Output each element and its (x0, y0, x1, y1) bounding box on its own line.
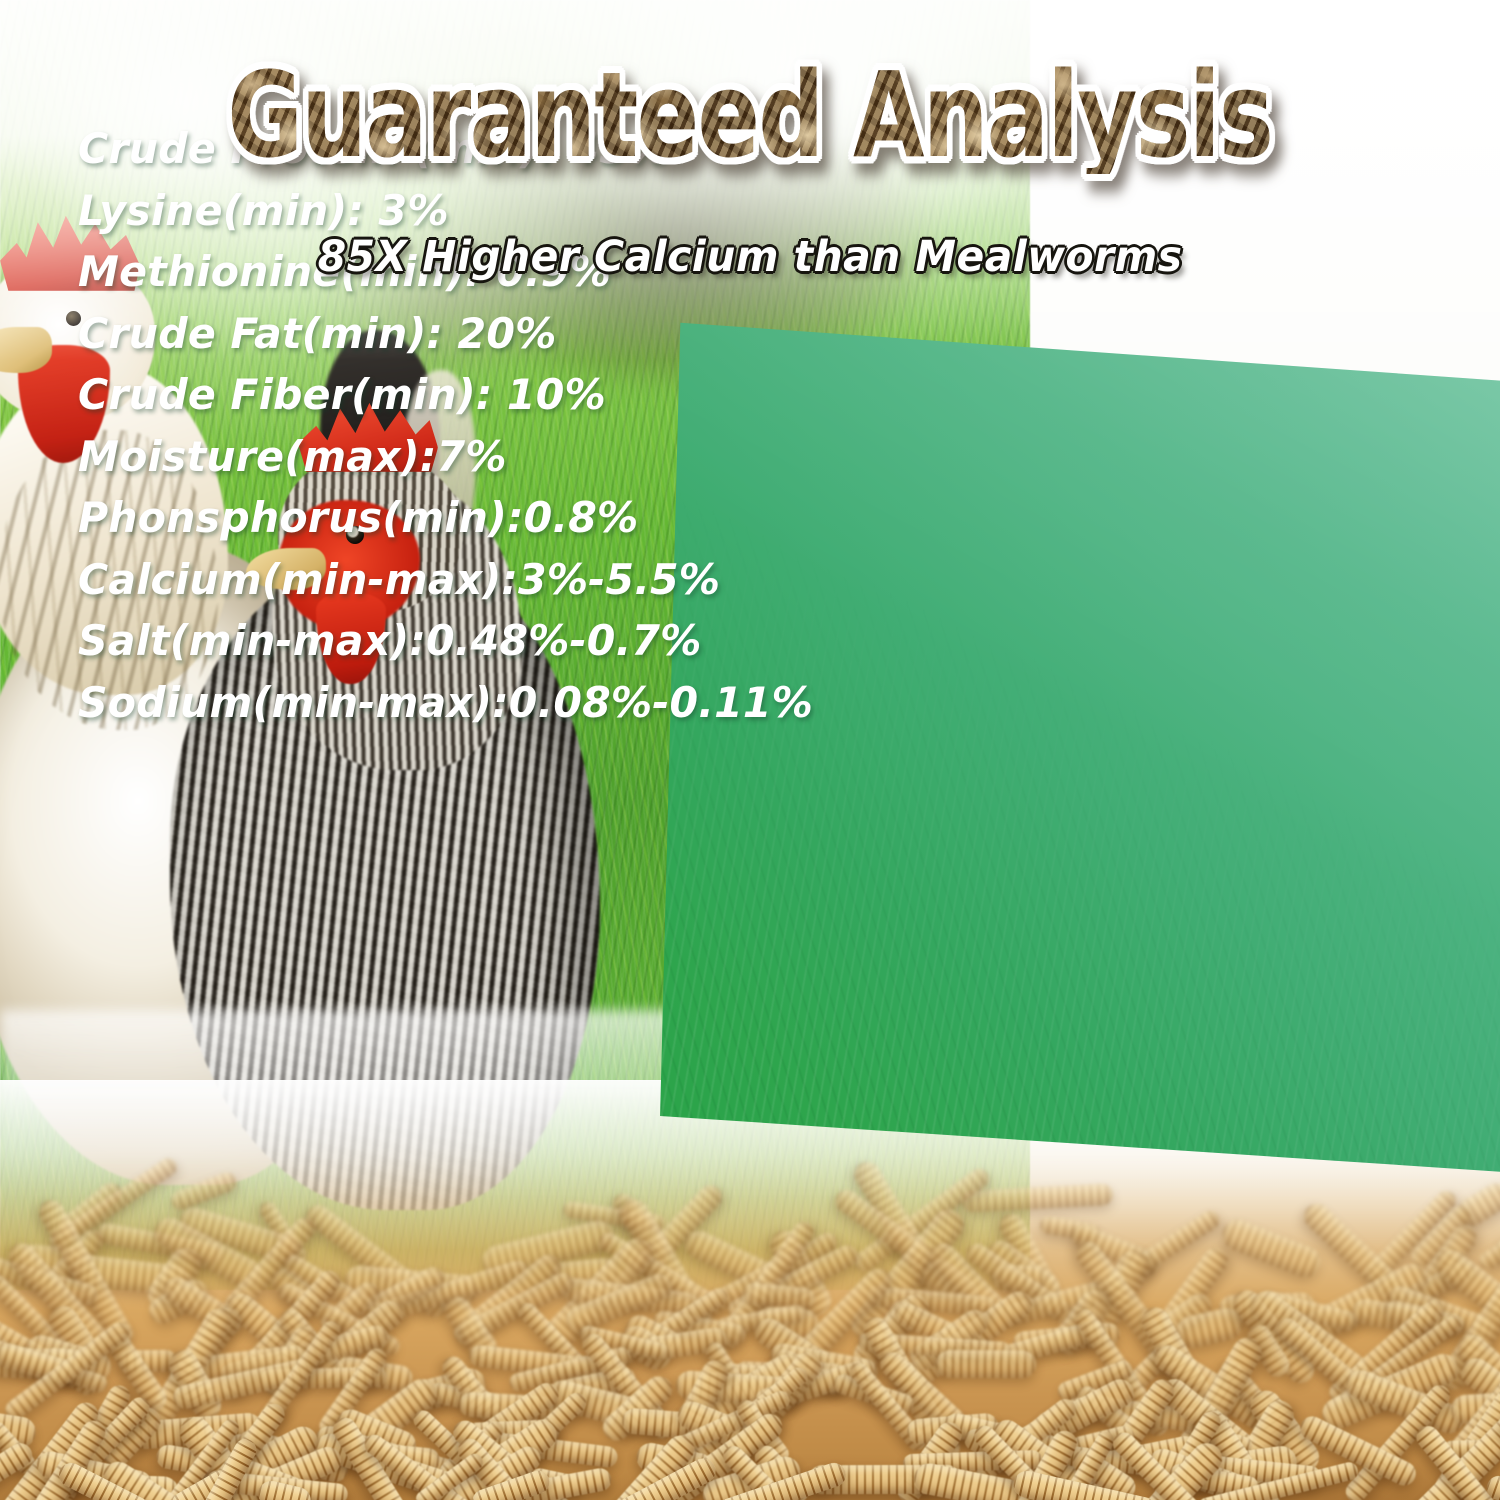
spec-row: Sodium(min-max):0.08%-0.11% (78, 672, 1464, 734)
spec-row: Moisture(max):7% (78, 426, 1464, 488)
page-title: Guaranteed Analysis (228, 56, 1273, 174)
larva (961, 1183, 1113, 1212)
larva (168, 1170, 239, 1213)
subtitle-block: 85X Higher Calcium than Mealworms (0, 232, 1500, 292)
title-block: Guaranteed Analysis (0, 56, 1500, 182)
spec-row: Calcium(min-max):3%-5.5% (78, 549, 1464, 611)
spec-row: Crude Fat(min): 20% (78, 303, 1464, 365)
spec-row: Phonsphorus(min):0.8% (78, 487, 1464, 549)
larva (936, 1350, 1036, 1378)
product-infographic-poster: Guaranteed Analysis 85X Higher Calcium t… (0, 0, 1500, 1500)
spec-row: Crude Fiber(min): 10% (78, 364, 1464, 426)
spec-row: Salt(min-max):0.48%-0.7% (78, 610, 1464, 672)
nutrition-spec-list: Crude Protein (min): 45%Lysine(min): 3%M… (78, 118, 1478, 733)
page-subtitle: 85X Higher Calcium than Mealworms (318, 232, 1183, 282)
